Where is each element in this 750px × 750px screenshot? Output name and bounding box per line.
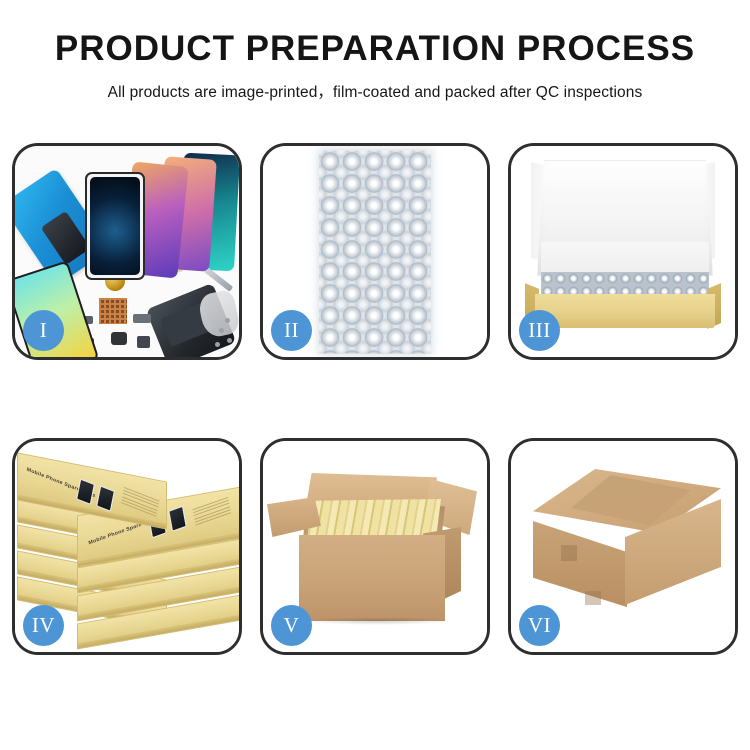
- carton-front-panel: [299, 535, 445, 621]
- step-badge-2: II: [271, 310, 312, 351]
- carton-tape-patch: [561, 545, 577, 561]
- bubble-wrap-package: [319, 150, 431, 353]
- step-badge-6: VI: [519, 605, 560, 646]
- bubble-wrap-texture-offset: [319, 150, 431, 353]
- page-subtitle: All products are image-printed，film-coat…: [0, 80, 750, 102]
- box-artwork-screen: [96, 485, 115, 512]
- box-artwork-text-lines: [193, 497, 232, 528]
- box-artwork-screen: [76, 478, 95, 505]
- screw-part: [219, 328, 224, 333]
- spare-part-speaker: [111, 332, 127, 345]
- process-step-2: II: [260, 143, 490, 360]
- page-title: PRODUCT PREPARATION PROCESS: [0, 30, 750, 69]
- sealed-carton-left-face: [533, 521, 627, 607]
- header: PRODUCT PREPARATION PROCESS All products…: [0, 0, 750, 102]
- page-root: PRODUCT PREPARATION PROCESS All products…: [0, 0, 750, 750]
- screw-part: [225, 318, 230, 323]
- process-step-4: Mobile Phone Spare Parts Mobile Phone Sp…: [12, 438, 242, 655]
- spare-part-camera: [137, 336, 150, 348]
- process-step-3: III: [508, 143, 738, 360]
- step-badge-5: V: [271, 605, 312, 646]
- step-badge-4: IV: [23, 605, 64, 646]
- box-artwork-screen: [168, 506, 187, 532]
- spare-part-module: [133, 314, 151, 323]
- box-artwork-text-lines: [121, 487, 160, 519]
- box-front-panel: [535, 294, 715, 328]
- screw-part: [227, 338, 232, 343]
- process-step-grid: I II: [12, 143, 738, 673]
- process-step-6: VI: [508, 438, 738, 655]
- carton-tape-patch: [585, 591, 601, 605]
- bubble-wrap-edge-right: [430, 150, 440, 353]
- process-step-5: V: [260, 438, 490, 655]
- process-step-1: I: [12, 143, 242, 360]
- step-badge-1: I: [23, 310, 64, 351]
- screw-part: [215, 342, 220, 347]
- step-badge-3: III: [519, 310, 560, 351]
- black-screen-phone: [85, 172, 145, 280]
- carton-shadow: [303, 617, 453, 625]
- chip-grid-part: [99, 298, 127, 324]
